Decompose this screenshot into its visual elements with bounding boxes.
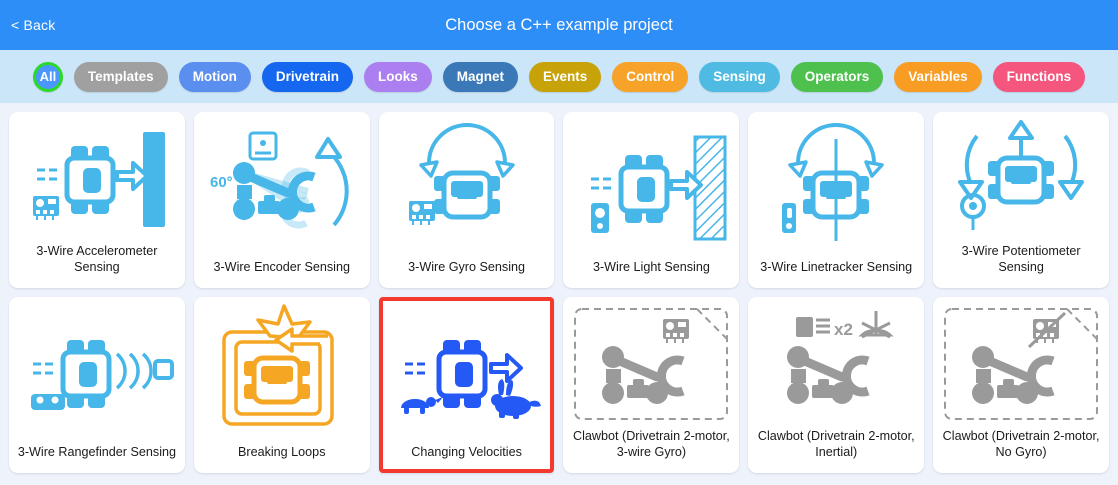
filter-pill-label: Drivetrain	[276, 69, 339, 84]
filter-pill-label: All	[40, 69, 57, 84]
light-icon	[563, 112, 739, 259]
filter-pill-all[interactable]: All	[33, 62, 63, 92]
gyro-icon	[379, 112, 555, 259]
example-project-card[interactable]: Changing Velocities	[379, 297, 555, 473]
filter-pill-templates[interactable]: Templates	[74, 62, 168, 92]
filter-pill-label: Functions	[1007, 69, 1072, 84]
filter-pill-label: Motion	[193, 69, 237, 84]
example-project-label: Breaking Loops	[194, 444, 370, 473]
example-project-card[interactable]: 3-Wire Linetracker Sensing	[748, 112, 924, 288]
page-title: Choose a C++ example project	[0, 16, 1118, 35]
svg-text:60°: 60°	[210, 174, 233, 191]
filter-pill-label: Operators	[805, 69, 870, 84]
filter-pill-label: Templates	[88, 69, 154, 84]
example-project-card[interactable]: x2Clawbot (Drivetrain 2-motor, Inertial)	[748, 297, 924, 473]
filter-pill-functions[interactable]: Functions	[993, 62, 1086, 92]
example-project-card[interactable]: 60°3-Wire Encoder Sensing	[194, 112, 370, 288]
example-project-card[interactable]: 3-Wire Gyro Sensing	[379, 112, 555, 288]
example-project-card[interactable]: Clawbot (Drivetrain 2-motor, No Gyro)	[933, 297, 1109, 473]
example-project-label: Clawbot (Drivetrain 2-motor, No Gyro)	[933, 428, 1109, 473]
filter-pill-magnet[interactable]: Magnet	[443, 62, 518, 92]
filter-pill-label: Variables	[908, 69, 967, 84]
page-header: < Back Choose a C++ example project	[0, 0, 1118, 50]
example-project-label: 3-Wire Gyro Sensing	[379, 259, 555, 288]
example-project-label: Changing Velocities	[383, 444, 551, 469]
filter-pill-operators[interactable]: Operators	[791, 62, 884, 92]
example-project-card[interactable]: Breaking Loops	[194, 297, 370, 473]
clawbot-gyro-icon	[563, 297, 739, 428]
filter-pill-label: Sensing	[713, 69, 766, 84]
filter-pill-control[interactable]: Control	[612, 62, 688, 92]
linetracker-icon	[748, 112, 924, 259]
example-project-label: Clawbot (Drivetrain 2-motor, 3-wire Gyro…	[563, 428, 739, 473]
potentiometer-icon	[933, 112, 1109, 243]
example-project-label: 3-Wire Linetracker Sensing	[748, 259, 924, 288]
filter-pill-events[interactable]: Events	[529, 62, 601, 92]
back-button[interactable]: < Back	[11, 17, 55, 33]
filter-pill-looks[interactable]: Looks	[364, 62, 432, 92]
clawbot-inertial-icon: x2	[748, 297, 924, 428]
example-project-label: 3-Wire Potentiometer Sensing	[933, 243, 1109, 288]
filter-pill-label: Events	[543, 69, 587, 84]
loops-icon	[194, 297, 370, 444]
filter-pill-sensing[interactable]: Sensing	[699, 62, 780, 92]
filter-pill-motion[interactable]: Motion	[179, 62, 251, 92]
velocities-icon	[383, 301, 551, 444]
example-project-card[interactable]: 3-Wire Rangefinder Sensing	[9, 297, 185, 473]
category-filter-bar: AllTemplatesMotionDrivetrainLooksMagnetE…	[0, 50, 1118, 103]
encoder-icon: 60°	[194, 112, 370, 259]
clawbot-nogyro-icon	[933, 297, 1109, 428]
example-project-card[interactable]: 3-Wire Light Sensing	[563, 112, 739, 288]
example-project-label: 3-Wire Rangefinder Sensing	[9, 444, 185, 473]
example-project-label: 3-Wire Light Sensing	[563, 259, 739, 288]
filter-pill-variables[interactable]: Variables	[894, 62, 981, 92]
example-project-label: 3-Wire Accelerometer Sensing	[9, 243, 185, 288]
rangefinder-icon	[9, 297, 185, 444]
example-project-label: 3-Wire Encoder Sensing	[194, 259, 370, 288]
filter-pill-drivetrain[interactable]: Drivetrain	[262, 62, 353, 92]
example-project-card[interactable]: 3-Wire Accelerometer Sensing	[9, 112, 185, 288]
example-project-card[interactable]: Clawbot (Drivetrain 2-motor, 3-wire Gyro…	[563, 297, 739, 473]
example-project-label: Clawbot (Drivetrain 2-motor, Inertial)	[748, 428, 924, 473]
accelerometer-icon	[9, 112, 185, 243]
svg-text:x2: x2	[834, 320, 853, 339]
example-project-card[interactable]: 3-Wire Potentiometer Sensing	[933, 112, 1109, 288]
filter-pill-label: Looks	[378, 69, 418, 84]
filter-pill-label: Magnet	[457, 69, 504, 84]
example-project-grid: 3-Wire Accelerometer Sensing60°3-Wire En…	[0, 103, 1118, 473]
filter-pill-label: Control	[626, 69, 674, 84]
